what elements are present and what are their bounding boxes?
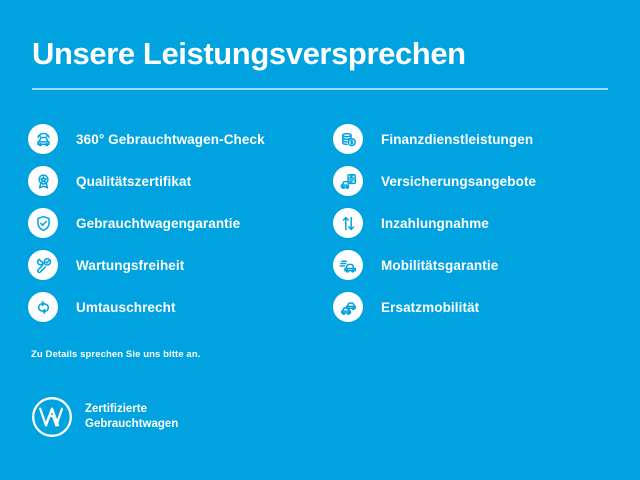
promise-item: Versicherungsangebote bbox=[333, 160, 638, 202]
slide-root: Unsere Leistungsversprechen 360° G bbox=[0, 0, 640, 480]
car-document-icon bbox=[333, 166, 363, 196]
promise-label: Ersatzmobilität bbox=[381, 300, 479, 315]
promises-grid: 360° Gebrauchtwagen-Check Qualitätszerti… bbox=[0, 118, 640, 328]
brand-logo-line-1: Zertifizierte bbox=[85, 403, 147, 415]
coins-stack-icon bbox=[333, 124, 363, 154]
footnote-text: Zu Details sprechen Sie uns bitte an. bbox=[31, 349, 200, 360]
page-title: Unsere Leistungsversprechen bbox=[32, 36, 466, 72]
shield-check-icon bbox=[28, 208, 58, 238]
promise-label: Versicherungsangebote bbox=[381, 174, 536, 189]
promise-label: Finanzdienstleistungen bbox=[381, 132, 533, 147]
wrench-check-icon bbox=[28, 250, 58, 280]
promise-item: Finanzdienstleistungen bbox=[333, 118, 638, 160]
promise-item: 360° Gebrauchtwagen-Check bbox=[28, 118, 333, 160]
brand-logo-line-2: Gebrauchtwagen bbox=[85, 418, 178, 430]
promise-label: Qualitätszertifikat bbox=[76, 174, 191, 189]
promise-item: Ersatzmobilität bbox=[333, 286, 638, 328]
title-divider bbox=[32, 88, 608, 90]
arrows-up-down-icon bbox=[333, 208, 363, 238]
promises-column-left: 360° Gebrauchtwagen-Check Qualitätszerti… bbox=[28, 118, 333, 328]
promise-item: Umtauschrecht bbox=[28, 286, 333, 328]
promise-label: 360° Gebrauchtwagen-Check bbox=[76, 132, 265, 147]
promise-item: Gebrauchtwagengarantie bbox=[28, 202, 333, 244]
brand-logo-block: Zertifizierte Gebrauchtwagen bbox=[31, 396, 178, 438]
promise-label: Mobilitätsgarantie bbox=[381, 258, 498, 273]
promise-item: Inzahlungnahme bbox=[333, 202, 638, 244]
promise-label: Gebrauchtwagengarantie bbox=[76, 216, 240, 231]
promise-label: Inzahlungnahme bbox=[381, 216, 489, 231]
promise-item: Wartungsfreiheit bbox=[28, 244, 333, 286]
car-check-360-icon bbox=[28, 124, 58, 154]
promise-item: Mobilitätsgarantie bbox=[333, 244, 638, 286]
promise-label: Wartungsfreiheit bbox=[76, 258, 184, 273]
car-motion-icon bbox=[333, 250, 363, 280]
award-rosette-icon bbox=[28, 166, 58, 196]
vw-logo-icon bbox=[31, 396, 73, 438]
exchange-arrows-icon bbox=[28, 292, 58, 322]
promise-label: Umtauschrecht bbox=[76, 300, 176, 315]
brand-logo-text: Zertifizierte Gebrauchtwagen bbox=[85, 402, 178, 431]
promises-column-right: Finanzdienstleistungen Versicherungsange… bbox=[333, 118, 638, 328]
two-cars-icon bbox=[333, 292, 363, 322]
promise-item: Qualitätszertifikat bbox=[28, 160, 333, 202]
